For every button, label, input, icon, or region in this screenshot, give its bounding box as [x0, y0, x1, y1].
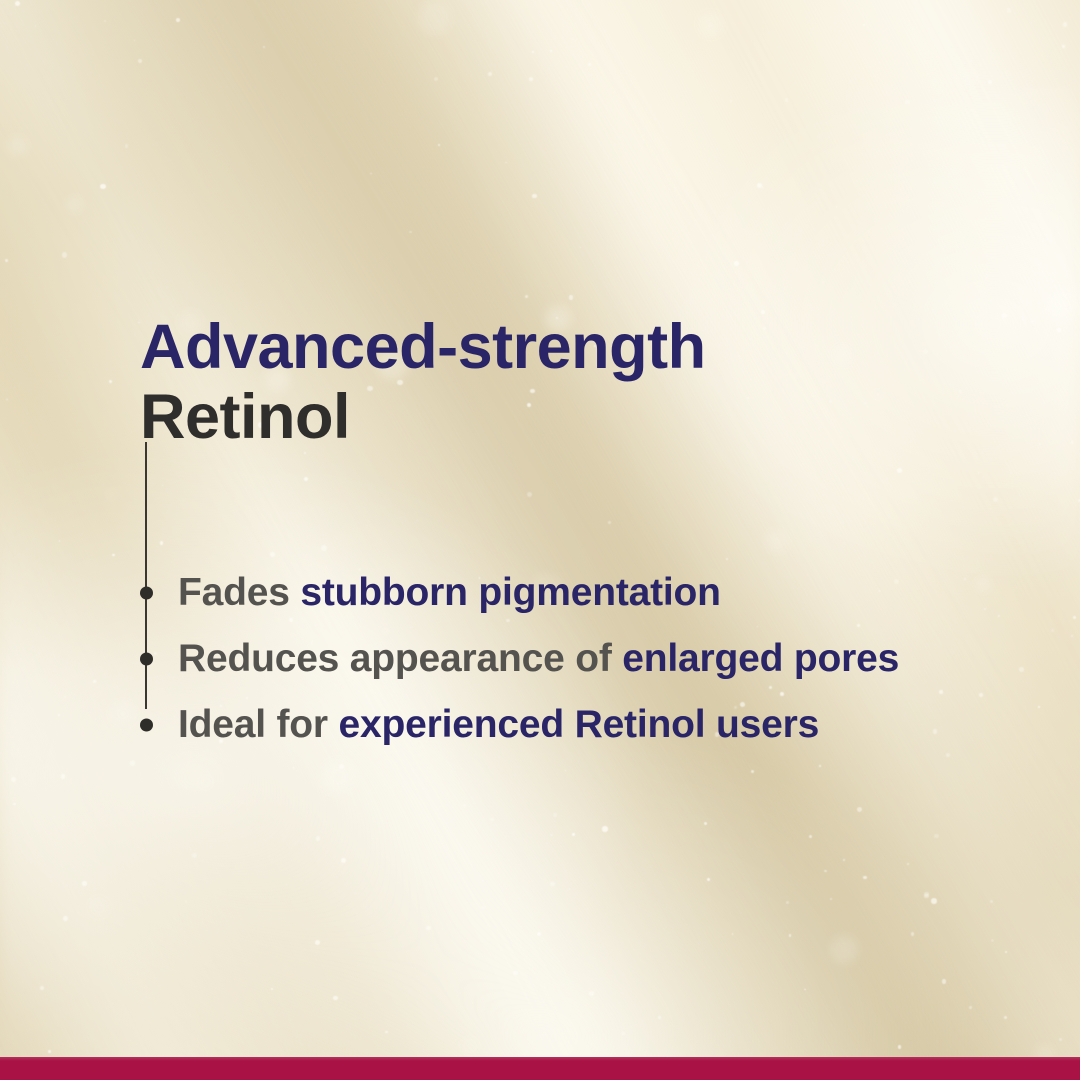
list-item: Reduces appearance of enlarged pores: [140, 626, 1020, 692]
page-title-line-1: Advanced-strength: [140, 312, 1020, 382]
brand-bar: [0, 1057, 1080, 1080]
product-benefit-card: Advanced-strength Retinol Fades stubborn…: [0, 0, 1080, 1080]
list-item: Fades stubborn pigmentation: [140, 560, 1020, 626]
background-sparkles: [0, 0, 1080, 1080]
benefit-text: Reduces appearance of enlarged pores: [178, 637, 899, 681]
benefit-emphasis: enlarged pores: [622, 637, 899, 680]
brand-bar-sheen: [0, 1057, 1080, 1061]
bullet-dot-icon: [140, 653, 153, 666]
bullet-dot-icon: [140, 587, 153, 600]
benefit-lead: Reduces appearance of: [178, 637, 622, 680]
benefit-lead: Ideal for: [178, 703, 339, 746]
page-title-line-2: Retinol: [140, 382, 1020, 452]
benefit-lead: Fades: [178, 571, 300, 614]
page-title: Advanced-strength Retinol: [140, 312, 1020, 452]
content-block: Advanced-strength Retinol Fades stubborn…: [140, 312, 1020, 452]
list-item: Ideal for experienced Retinol users: [140, 692, 1020, 758]
benefit-emphasis: experienced Retinol users: [339, 703, 820, 746]
benefit-list: Fades stubborn pigmentation Reduces appe…: [140, 560, 1020, 758]
bullet-dot-icon: [140, 719, 153, 732]
benefit-text: Fades stubborn pigmentation: [178, 571, 721, 615]
benefit-text: Ideal for experienced Retinol users: [178, 703, 819, 747]
benefit-emphasis: stubborn pigmentation: [300, 571, 720, 614]
